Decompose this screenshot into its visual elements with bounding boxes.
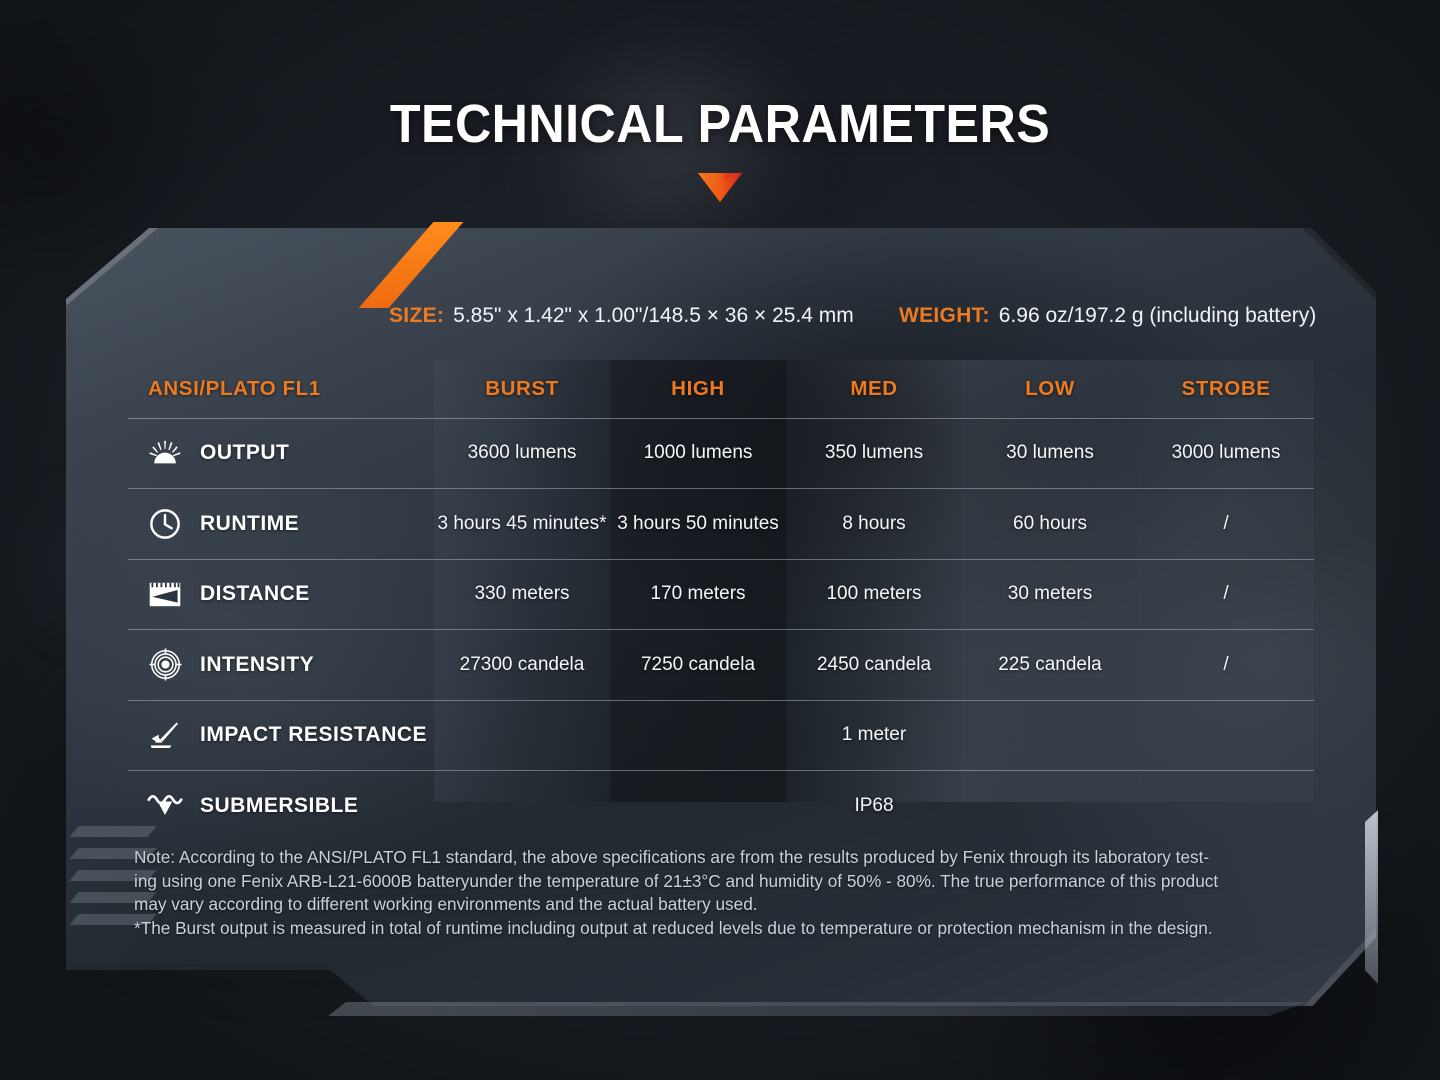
table-row: SUBMERSIBLE IP68	[128, 771, 1314, 842]
table-header: ANSI/PLATO FL1 BURST HIGH MED LOW STROBE	[128, 360, 1314, 418]
size-value: 5.85" x 1.42" x 1.00"/148.5 × 36 × 25.4 …	[453, 304, 854, 328]
column-header-strobe: STROBE	[1138, 360, 1314, 418]
row-label-distance: DISTANCE	[128, 559, 434, 630]
cell-output-strobe: 3000 lumens	[1138, 418, 1314, 489]
row-label-text: SUBMERSIBLE	[200, 794, 358, 818]
weight-spec: WEIGHT: 6.96 oz/197.2 g (including batte…	[899, 304, 1316, 328]
cell-intensity-burst: 27300 candela	[434, 630, 610, 701]
cell-runtime-high: 3 hours 50 minutes	[610, 489, 786, 560]
footnote: Note: According to the ANSI/PLATO FL1 st…	[134, 846, 1324, 941]
water-wave-icon	[144, 789, 186, 823]
row-label-text: IMPACT RESISTANCE	[200, 723, 427, 747]
footnote-line-4: *The Burst output is measured in total o…	[134, 917, 1324, 941]
cell-distance-burst: 330 meters	[434, 559, 610, 630]
chevron-down-icon	[697, 171, 743, 203]
table-row: RUNTIME 3 hours 45 minutes* 3 hours 50 m…	[128, 489, 1314, 560]
weight-value: 6.96 oz/197.2 g (including battery)	[999, 304, 1317, 328]
size-label: SIZE:	[389, 304, 444, 328]
table-row: IMPACT RESISTANCE 1 meter	[128, 700, 1314, 771]
cell-output-burst: 3600 lumens	[434, 418, 610, 489]
table-row: INTENSITY 27300 candela 7250 candela 245…	[128, 630, 1314, 701]
table-body: OUTPUT 3600 lumens 1000 lumens 350 lumen…	[128, 418, 1314, 841]
specifications-table-wrapper: ANSI/PLATO FL1 BURST HIGH MED LOW STROBE	[128, 360, 1314, 841]
cell-runtime-low: 60 hours	[962, 489, 1138, 560]
table-row: OUTPUT 3600 lumens 1000 lumens 350 lumen…	[128, 418, 1314, 489]
row-label-text: INTENSITY	[200, 653, 314, 677]
cell-distance-low: 30 meters	[962, 559, 1138, 630]
size-spec: SIZE: 5.85" x 1.42" x 1.00"/148.5 × 36 ×…	[389, 304, 854, 328]
cell-intensity-high: 7250 candela	[610, 630, 786, 701]
footnote-line-3: may vary according to different working …	[134, 893, 1324, 917]
table-header-row: ANSI/PLATO FL1 BURST HIGH MED LOW STROBE	[128, 360, 1314, 418]
target-intensity-icon	[144, 648, 186, 682]
cell-output-high: 1000 lumens	[610, 418, 786, 489]
sunburst-icon	[144, 436, 186, 470]
cell-output-low: 30 lumens	[962, 418, 1138, 489]
cell-distance-med: 100 meters	[786, 559, 962, 630]
right-edge-accent-bar	[1365, 810, 1378, 984]
cell-impact-resistance-value: 1 meter	[434, 700, 1314, 771]
cell-intensity-low: 225 candela	[962, 630, 1138, 701]
column-header-ansi: ANSI/PLATO FL1	[128, 360, 434, 418]
cell-output-med: 350 lumens	[786, 418, 962, 489]
footnote-line-2: ing using one Fenix ARB-L21-6000B batter…	[134, 870, 1324, 894]
column-header-low: LOW	[962, 360, 1138, 418]
clock-icon	[144, 507, 186, 541]
cell-runtime-strobe: /	[1138, 489, 1314, 560]
specifications-table: ANSI/PLATO FL1 BURST HIGH MED LOW STROBE	[128, 360, 1314, 841]
column-header-high: HIGH	[610, 360, 786, 418]
cell-distance-high: 170 meters	[610, 559, 786, 630]
row-label-text: OUTPUT	[200, 441, 289, 465]
row-label-runtime: RUNTIME	[128, 489, 434, 560]
column-header-burst: BURST	[434, 360, 610, 418]
cell-intensity-med: 2450 candela	[786, 630, 962, 701]
cell-distance-strobe: /	[1138, 559, 1314, 630]
cell-submersible-value: IP68	[434, 771, 1314, 842]
spec-panel: SIZE: 5.85" x 1.42" x 1.00"/148.5 × 36 ×…	[66, 228, 1376, 1006]
row-label-submersible: SUBMERSIBLE	[128, 771, 434, 842]
row-label-text: RUNTIME	[200, 512, 299, 536]
cell-runtime-med: 8 hours	[786, 489, 962, 560]
row-label-intensity: INTENSITY	[128, 630, 434, 701]
cell-runtime-burst: 3 hours 45 minutes*	[434, 489, 610, 560]
table-row: DISTANCE 330 meters 170 meters 100 meter…	[128, 559, 1314, 630]
row-label-output: OUTPUT	[128, 418, 434, 489]
row-label-text: DISTANCE	[200, 582, 310, 606]
row-label-impact-resistance: IMPACT RESISTANCE	[128, 700, 434, 771]
impact-arrow-icon	[144, 718, 186, 752]
column-header-med: MED	[786, 360, 962, 418]
ruler-distance-icon	[144, 577, 186, 611]
weight-label: WEIGHT:	[899, 304, 990, 328]
cell-intensity-strobe: /	[1138, 630, 1314, 701]
page-title: TECHNICAL PARAMETERS	[50, 96, 1389, 153]
bottom-edge-lip	[328, 1002, 1308, 1016]
footnote-line-1: Note: According to the ANSI/PLATO FL1 st…	[134, 846, 1324, 870]
page-header: TECHNICAL PARAMETERS	[0, 0, 1440, 208]
